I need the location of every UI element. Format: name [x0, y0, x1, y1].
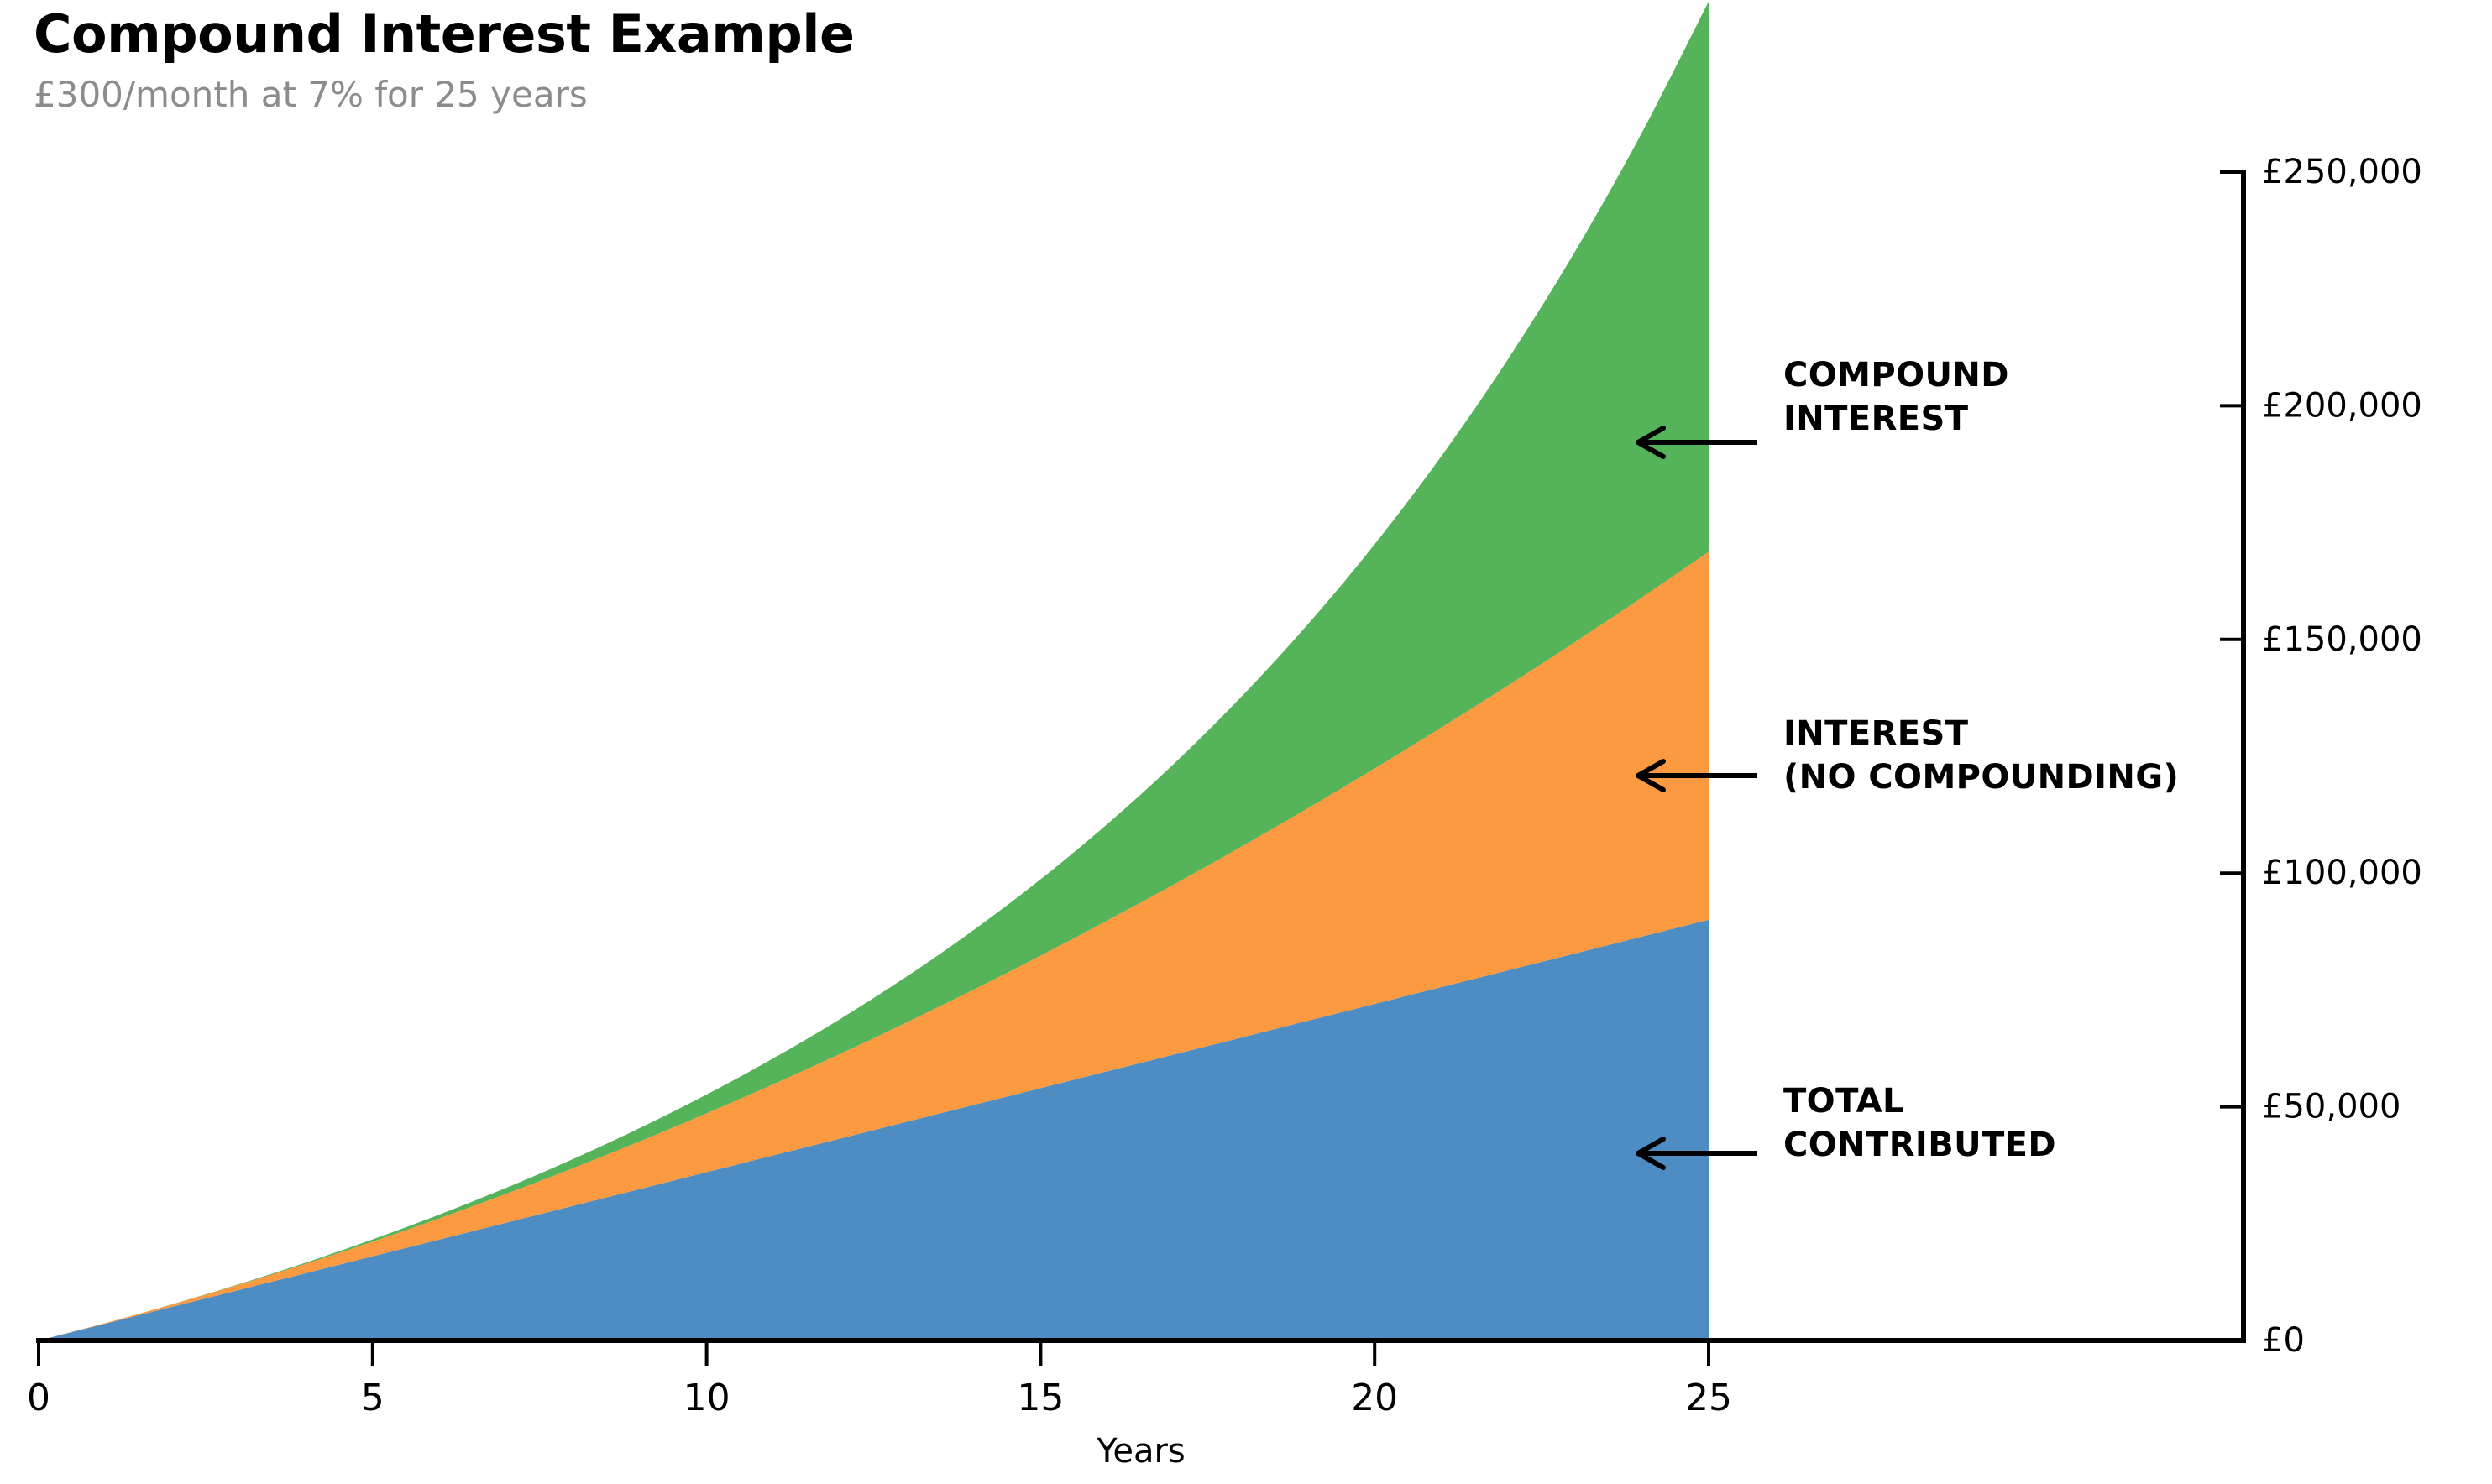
y-axis-ticks: £0£50,000£100,000£150,000£200,000£250,00…	[2220, 153, 2422, 1360]
chart-plot-area: 0510152025 £0£50,000£100,000£150,000£200…	[0, 0, 2492, 1484]
x-axis-ticks: 0510152025	[27, 1340, 1732, 1419]
annotation-simple-interest-line1: INTEREST	[1783, 714, 1969, 753]
y-tick-label: £100,000	[2262, 854, 2422, 892]
x-axis-title: Years	[1096, 1432, 1186, 1471]
annotation-compound-interest-line1: COMPOUND	[1783, 356, 2009, 395]
annotation-total-contributed-line1: TOTAL	[1783, 1082, 1904, 1121]
y-tick-label: £250,000	[2262, 153, 2422, 191]
area-bands	[39, 2, 1709, 1340]
annotation-total-contributed-line2: CONTRIBUTED	[1783, 1126, 2056, 1164]
chart-figure: Compound Interest Example £300/month at …	[0, 0, 2492, 1484]
y-tick-label: £0	[2262, 1321, 2305, 1360]
x-tick-label: 20	[1351, 1377, 1398, 1419]
annotation-simple-interest-line2: (NO COMPOUNDING)	[1783, 758, 2179, 797]
y-tick-label: £50,000	[2262, 1088, 2400, 1126]
x-tick-label: 0	[27, 1377, 50, 1419]
y-tick-label: £150,000	[2262, 620, 2422, 659]
annotation-simple-interest: INTEREST (NO COMPOUNDING)	[1638, 714, 2179, 797]
annotation-compound-interest-line2: INTEREST	[1783, 400, 1969, 438]
x-tick-label: 25	[1685, 1377, 1732, 1419]
y-tick-label: £200,000	[2262, 386, 2422, 425]
x-tick-label: 5	[361, 1377, 385, 1419]
x-tick-label: 10	[683, 1377, 730, 1419]
x-tick-label: 15	[1017, 1377, 1064, 1419]
